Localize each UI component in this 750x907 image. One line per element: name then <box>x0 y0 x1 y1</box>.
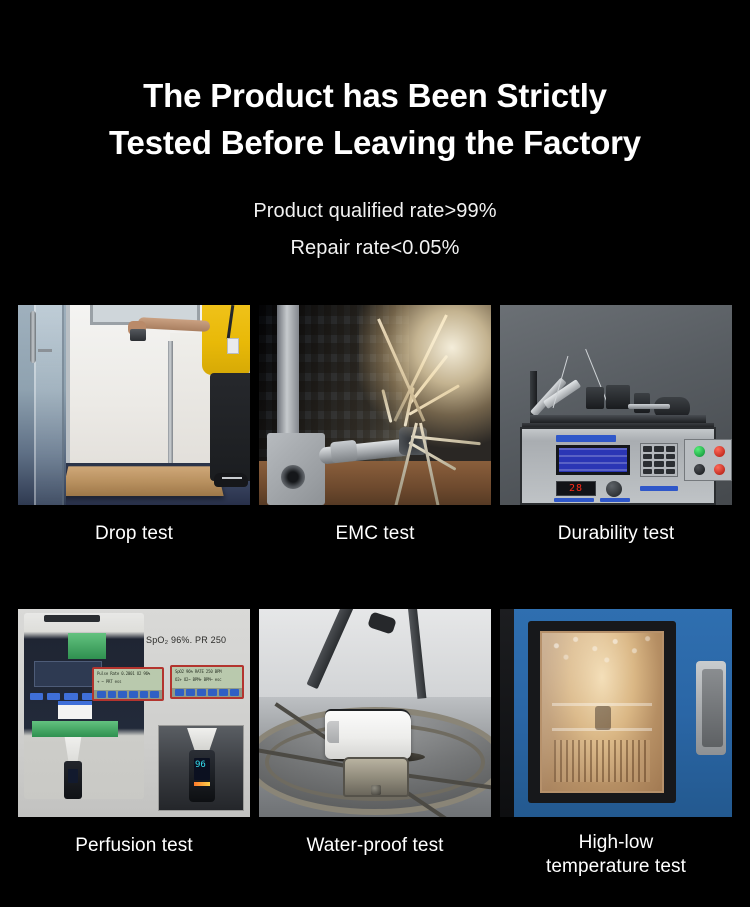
test-card-water-proof-test: Water-proof test <box>259 609 491 879</box>
lcd-key[interactable] <box>129 691 138 698</box>
antenna-boom-collar <box>330 440 358 464</box>
drop-test-photo <box>18 305 250 505</box>
technician-shoe <box>214 473 248 487</box>
lcd-key[interactable] <box>150 691 159 698</box>
test-card-high-low-temperature-test: High-low temperature test <box>500 609 732 879</box>
simulator-button[interactable] <box>64 693 77 700</box>
id-badge <box>227 338 239 354</box>
keypad-key[interactable] <box>654 469 663 475</box>
lcd-key[interactable] <box>108 691 117 698</box>
test-photo-grid: Drop test <box>18 305 732 879</box>
red-emergency-button[interactable] <box>714 464 725 475</box>
keypad-key[interactable] <box>666 454 675 460</box>
lcd-key[interactable] <box>118 691 127 698</box>
glass-door <box>18 305 66 505</box>
lcd-key[interactable] <box>230 689 239 696</box>
lcd-key[interactable] <box>140 691 149 698</box>
simulator-green-strip <box>32 721 118 737</box>
keypad-key[interactable] <box>643 446 652 452</box>
lcd-key[interactable] <box>186 689 195 696</box>
simulator-label-card <box>58 701 92 719</box>
test-card-drop-test: Drop test <box>18 305 250 546</box>
lcd-callout-left: Pulse Rate 0.2001 O2 96% + ~ PRT ess <box>92 667 164 701</box>
caption-durability-test: Durability test <box>500 505 732 546</box>
technician-legs <box>210 373 250 481</box>
keypad-key[interactable] <box>666 469 675 475</box>
headline-line-2: Tested Before Leaving the Factory <box>0 119 750 166</box>
red-stop-button[interactable] <box>714 446 725 457</box>
oximeter-screen <box>68 769 78 783</box>
control-panel: 28 <box>520 427 716 505</box>
lcd-key[interactable] <box>97 691 106 698</box>
caption-line-2: temperature test <box>546 856 686 877</box>
inset-reading-value: 96 <box>195 760 206 770</box>
product-testing-banner: The Product has Been Strictly Tested Bef… <box>0 0 750 907</box>
label-strip-left <box>554 498 594 502</box>
oximeter-finger-notch <box>327 721 339 743</box>
test-card-perfusion-test: SpO₂ 96%. PR 250 Pulse Rate 0.2001 O2 96… <box>18 609 250 879</box>
door-handle-bracket <box>38 349 52 352</box>
keypad-key[interactable] <box>654 454 663 460</box>
lcd-key[interactable] <box>208 689 217 696</box>
caption-emc-test: EMC test <box>259 505 491 546</box>
oximeter-inset-photo: 96 <box>158 725 244 811</box>
chamber-window <box>540 631 664 793</box>
high-low-temperature-test-photo <box>500 609 732 817</box>
device-under-test <box>130 329 146 341</box>
qualified-rate-text: Product qualified rate>99% <box>0 200 750 223</box>
turntable-bolt <box>371 785 381 795</box>
panel-branding-strip <box>556 435 616 442</box>
spo2-overlay-text: SpO₂ 96%. PR 250 <box>146 635 226 645</box>
metal-post <box>168 341 173 469</box>
drive-shaft <box>628 404 670 409</box>
test-card-durability-test: 28 <box>500 305 732 546</box>
lcd-right-line-2: O2+ O2~ BPM+ BPM~ esc <box>172 675 242 683</box>
inset-plethysmograph-bar <box>194 782 210 786</box>
perfusion-test-photo: SpO₂ 96%. PR 250 Pulse Rate 0.2001 O2 96… <box>18 609 250 817</box>
door-handle <box>30 311 36 363</box>
repair-rate-text: Repair rate<0.05% <box>0 237 750 260</box>
light-flare <box>359 305 491 453</box>
keypad-key[interactable] <box>654 461 663 467</box>
clamp-block-2 <box>606 385 630 409</box>
caption-water-proof-test: Water-proof test <box>259 817 491 858</box>
panel-knob <box>606 481 622 497</box>
lcd-key[interactable] <box>197 689 206 696</box>
lcd-left-line-1: Pulse Rate 0.2001 O2 96% <box>94 669 162 677</box>
water-proof-test-photo <box>259 609 491 817</box>
keypad-key[interactable] <box>666 461 675 467</box>
lcd-left-line-2: + ~ PRT ess <box>94 677 162 685</box>
clamp-block-3 <box>634 393 650 413</box>
led-value: 28 <box>569 483 583 494</box>
shoe-stripe <box>222 477 242 479</box>
panel-button-cluster <box>684 439 732 481</box>
lcd-key[interactable] <box>219 689 228 696</box>
wooden-drop-board <box>61 466 223 496</box>
simulator-green-panel <box>68 633 106 659</box>
caption-high-low-temperature-test: High-low temperature test <box>500 817 732 879</box>
keypad-key[interactable] <box>643 469 652 475</box>
black-button[interactable] <box>694 464 705 475</box>
glass-reflection <box>542 633 662 791</box>
durability-test-photo: 28 <box>500 305 732 505</box>
caption-drop-test: Drop test <box>18 505 250 546</box>
mechanism-rail <box>530 415 706 423</box>
label-strip-mid <box>600 498 630 502</box>
simulator-button[interactable] <box>47 693 60 700</box>
panel-lcd-display <box>556 445 630 475</box>
keypad-key[interactable] <box>666 446 675 452</box>
panel-led-counter: 28 <box>556 481 596 496</box>
caption-line-1: High-low <box>579 832 654 853</box>
simulator-top-vent <box>44 615 100 622</box>
keypad-label-strip <box>640 486 678 491</box>
test-card-emc-test: EMC test <box>259 305 491 546</box>
spray-arm-left <box>306 609 356 689</box>
technician-torso <box>202 305 250 375</box>
lcd-right-keys[interactable] <box>172 688 242 697</box>
lcd-key[interactable] <box>175 689 184 696</box>
glass-pane <box>34 305 64 505</box>
keypad-key[interactable] <box>643 461 652 467</box>
emc-test-photo <box>259 305 491 505</box>
spray-arm-right <box>407 609 426 699</box>
chamber-left-edge <box>500 609 514 817</box>
simulator-button[interactable] <box>30 693 43 700</box>
headline-line-1: The Product has Been Strictly <box>0 72 750 119</box>
keypad-key[interactable] <box>643 454 652 460</box>
lcd-left-keys[interactable] <box>94 690 162 699</box>
green-start-button[interactable] <box>694 446 705 457</box>
lcd-callout-right: SpO2 96% RATE 250 BPM O2+ O2~ BPM+ BPM~ … <box>170 665 244 699</box>
spray-nozzle <box>367 611 397 634</box>
caption-perfusion-test: Perfusion test <box>18 817 250 858</box>
clamp-block-1 <box>586 387 604 409</box>
panel-keypad[interactable] <box>640 443 678 477</box>
chamber-handle-recess <box>702 669 723 747</box>
page-title: The Product has Been Strictly Tested Bef… <box>0 72 750 166</box>
keypad-key[interactable] <box>654 446 663 452</box>
mount-pivot <box>281 465 305 489</box>
lcd-right-line-1: SpO2 96% RATE 250 BPM <box>172 667 242 675</box>
